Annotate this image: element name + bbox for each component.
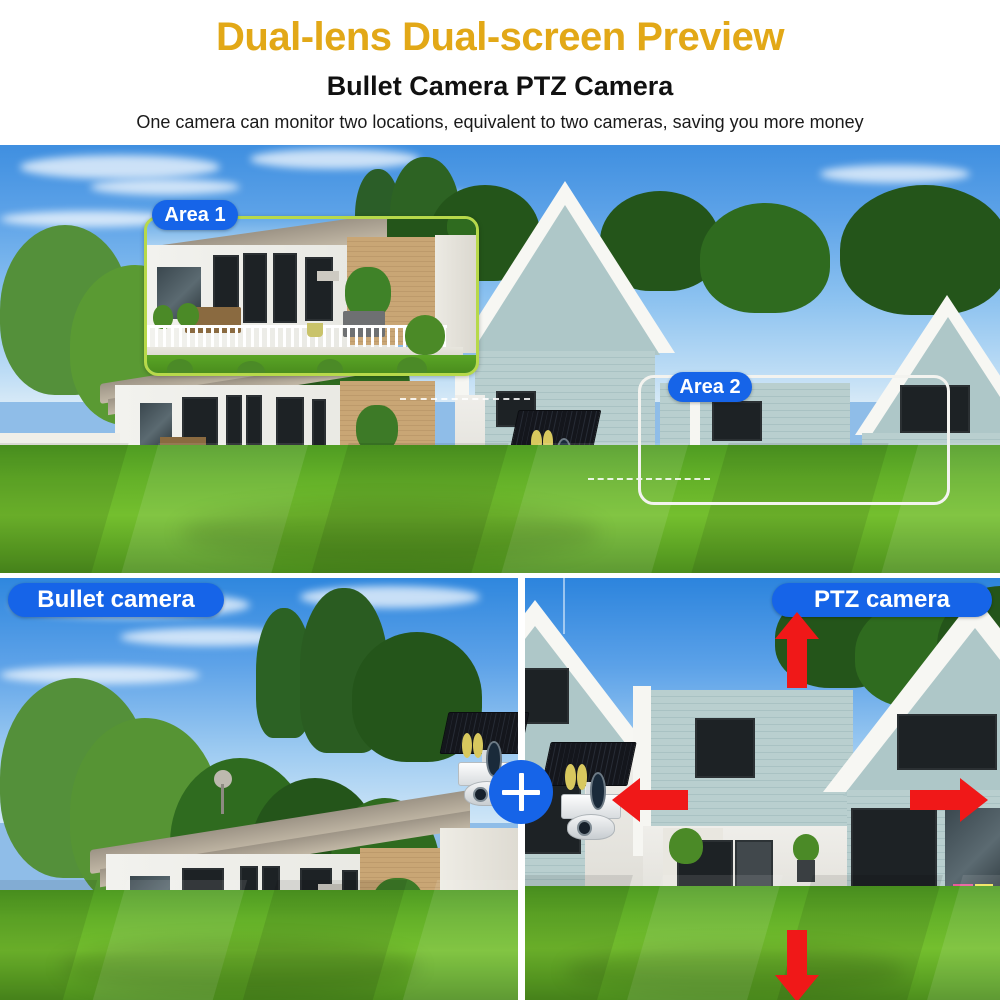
- product-promo-page: Dual-lens Dual-screen Preview Bullet Cam…: [0, 0, 1000, 1000]
- ptz-arrow-down: [775, 930, 819, 1000]
- ptz-arrow-right: [910, 778, 988, 822]
- badge-bullet-camera[interactable]: Bullet camera: [8, 583, 224, 617]
- plus-icon[interactable]: [489, 760, 553, 824]
- leader-line-area1: [400, 398, 530, 400]
- badge-area-2[interactable]: Area 2: [668, 372, 752, 402]
- ptz-arrow-up: [775, 612, 819, 688]
- page-subtitle: Bullet Camera PTZ Camera: [0, 70, 1000, 102]
- badge-ptz-camera-label: PTZ camera: [814, 588, 950, 612]
- badge-area-1-label: Area 1: [164, 205, 225, 225]
- badge-area-1[interactable]: Area 1: [152, 200, 238, 230]
- page-title: Dual-lens Dual-screen Preview: [0, 14, 1000, 60]
- page-description: One camera can monitor two locations, eq…: [0, 110, 1000, 134]
- area1-inset-view: [144, 216, 479, 376]
- badge-bullet-camera-label: Bullet camera: [37, 588, 194, 612]
- badge-area-2-label: Area 2: [679, 377, 740, 397]
- ptz-arrow-left: [612, 778, 688, 822]
- header: Dual-lens Dual-screen Preview Bullet Cam…: [0, 0, 1000, 145]
